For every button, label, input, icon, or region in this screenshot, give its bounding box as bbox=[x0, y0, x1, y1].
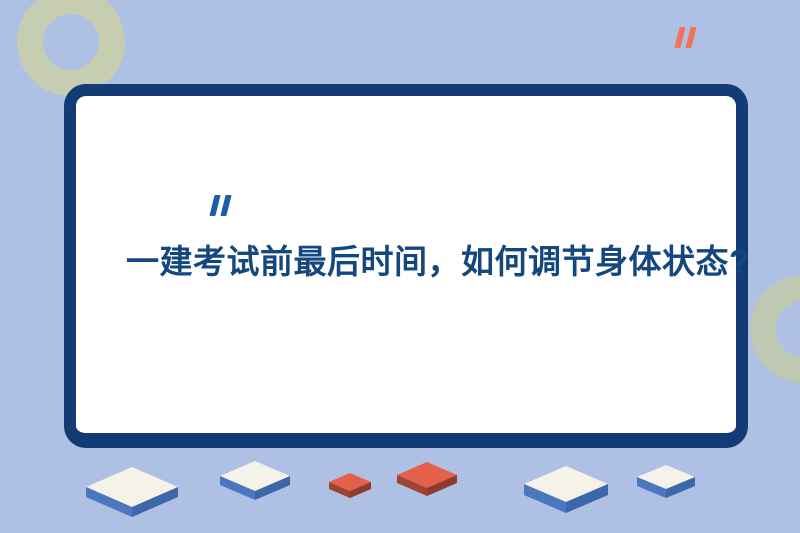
iso-box-white-3 bbox=[524, 466, 608, 513]
poster-canvas: 一建考试前最后时间，如何调节身体状态? bbox=[0, 0, 800, 533]
iso-box-red-small bbox=[329, 473, 371, 498]
quote-mark-icon bbox=[676, 27, 698, 49]
page-title: 一建考试前最后时间，如何调节身体状态? bbox=[126, 242, 750, 282]
iso-box-red-large bbox=[397, 462, 457, 496]
quote-mark-icon bbox=[211, 195, 233, 217]
iso-box-white-2 bbox=[220, 461, 290, 500]
sage-ring-icon bbox=[17, 0, 125, 96]
sage-ring-icon bbox=[750, 275, 800, 383]
iso-box-white-4 bbox=[637, 465, 695, 498]
content-card: 一建考试前最后时间，如何调节身体状态? bbox=[64, 84, 748, 448]
iso-box-white-1 bbox=[86, 467, 178, 517]
